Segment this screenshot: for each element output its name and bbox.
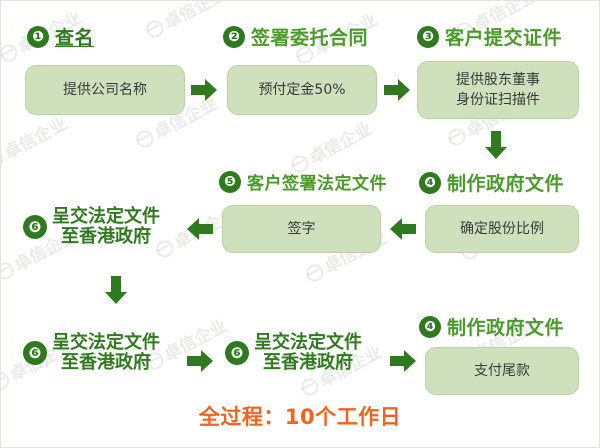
node-9-body: 支付尾款: [474, 361, 530, 381]
step-badge-6: ❻: [23, 215, 47, 239]
arrow-left-icon: [187, 218, 213, 240]
node-8-label: ❻ 呈交法定文件 至香港政府: [225, 333, 362, 373]
node-4-body: 确定股份比例: [460, 219, 544, 239]
node-7-line-2: 至香港政府: [52, 353, 160, 373]
flowchart-canvas: 卓信企业 卓信企业 卓信企业 卓信企业 卓信企业 卓信企业 卓信企业 卓信企业 …: [0, 0, 600, 448]
node-7-line-1: 呈交法定文件: [52, 333, 160, 353]
node-1-title: 查名: [55, 23, 94, 50]
arrow-left-icon: [390, 218, 416, 240]
step-badge-4: ❹: [419, 172, 441, 194]
node-9-title: 制作政府文件: [447, 313, 564, 340]
node-4-title: 制作政府文件: [447, 169, 564, 196]
node-7-label: ❻ 呈交法定文件 至香港政府: [23, 333, 160, 373]
arrow-right-icon: [390, 350, 416, 372]
node-8-line-2: 至香港政府: [254, 353, 362, 373]
node-2-box[interactable]: 预付定金50%: [227, 65, 377, 115]
arrow-down-icon: [105, 276, 127, 304]
arrow-right-icon: [384, 79, 410, 101]
node-1-body: 提供公司名称: [63, 80, 147, 100]
arrow-down-icon: [485, 131, 507, 159]
node-7-title: 呈交法定文件 至香港政府: [52, 333, 160, 373]
node-5-body: 签字: [288, 219, 316, 239]
node-2-heading: ❷ 签署委托合同: [223, 23, 368, 50]
step-badge-2: ❷: [223, 26, 245, 48]
node-3-title: 客户提交证件: [445, 23, 562, 50]
node-1-heading: ❶ 查名: [27, 23, 94, 50]
node-8-line-1: 呈交法定文件: [254, 333, 362, 353]
summary-footer: 全过程：10个工作日: [1, 401, 599, 431]
node-6-line-1: 呈交法定文件: [52, 207, 160, 227]
step-badge-4: ❹: [419, 316, 441, 338]
arrow-right-icon: [191, 79, 217, 101]
node-2-title: 签署委托合同: [251, 23, 368, 50]
node-5-box[interactable]: 签字: [222, 205, 381, 253]
node-3-heading: ❸ 客户提交证件: [417, 23, 562, 50]
node-4-box[interactable]: 确定股份比例: [425, 205, 579, 253]
node-5-title: 客户签署法定文件: [247, 169, 387, 194]
node-3-box[interactable]: 提供股东董事 身份证扫描件: [417, 61, 579, 119]
step-badge-3: ❸: [417, 26, 439, 48]
node-9-heading: ❹ 制作政府文件: [419, 313, 564, 340]
node-6-title: 呈交法定文件 至香港政府: [52, 207, 160, 247]
arrow-right-icon: [187, 350, 213, 372]
step-badge-5: ❺: [219, 171, 241, 193]
node-9-box[interactable]: 支付尾款: [425, 347, 579, 395]
node-6-line-2: 至香港政府: [52, 227, 160, 247]
node-5-heading: ❺ 客户签署法定文件: [219, 169, 387, 194]
node-2-body: 预付定金50%: [258, 80, 345, 100]
node-6-label: ❻ 呈交法定文件 至香港政府: [23, 207, 160, 247]
node-3-body-line-1: 提供股东董事: [456, 70, 540, 90]
node-3-body-line-2: 身份证扫描件: [456, 90, 540, 110]
step-badge-6: ❻: [225, 341, 249, 365]
node-4-heading: ❹ 制作政府文件: [419, 169, 564, 196]
step-badge-1: ❶: [27, 26, 49, 48]
node-8-title: 呈交法定文件 至香港政府: [254, 333, 362, 373]
node-1-box[interactable]: 提供公司名称: [25, 65, 185, 115]
step-badge-6: ❻: [23, 341, 47, 365]
